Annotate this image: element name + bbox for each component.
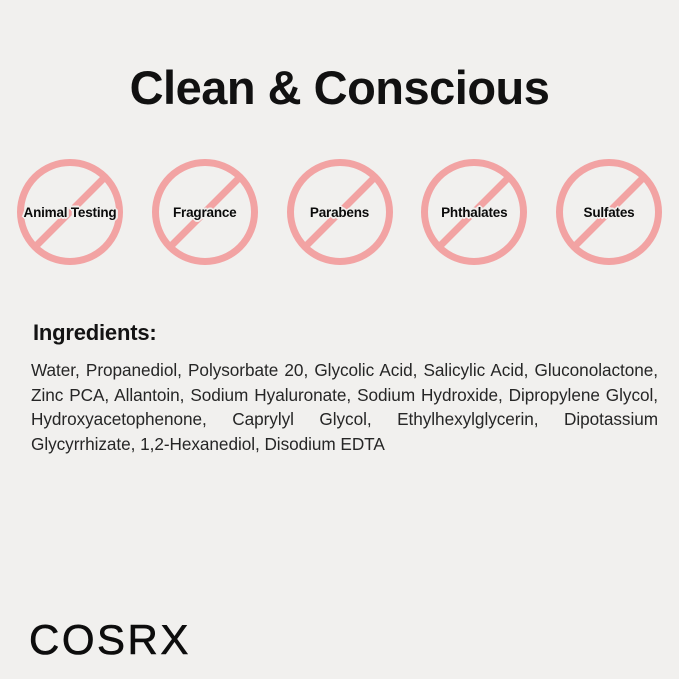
badge-sulfates: Sulfates <box>556 159 662 265</box>
badge-parabens: Parabens <box>287 159 393 265</box>
badge-animal-testing: Animal Testing <box>17 159 123 265</box>
page-title: Clean & Conscious <box>0 60 679 116</box>
free-from-badge-row: Animal Testing Fragrance Parabens Phthal… <box>17 159 662 269</box>
no-symbol-icon <box>421 159 527 265</box>
brand-logo: COSRX <box>29 618 191 662</box>
badge-fragrance: Fragrance <box>152 159 258 265</box>
no-symbol-icon <box>287 159 393 265</box>
no-symbol-icon <box>556 159 662 265</box>
no-symbol-icon <box>152 159 258 265</box>
no-symbol-icon <box>17 159 123 265</box>
badge-phthalates: Phthalates <box>421 159 527 265</box>
product-info-panel: Clean & Conscious Animal Testing Fragran… <box>0 0 679 679</box>
ingredients-heading: Ingredients: <box>33 320 157 346</box>
ingredients-list: Water, Propanediol, Polysorbate 20, Glyc… <box>31 358 658 456</box>
